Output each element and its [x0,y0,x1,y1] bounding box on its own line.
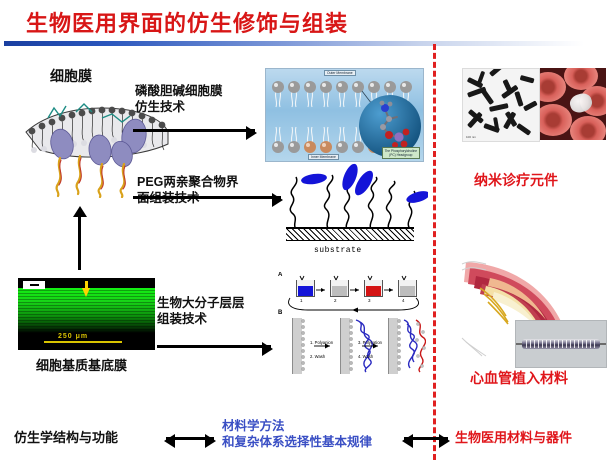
scale-bar-label: 250 μm [58,333,88,340]
arrow-label-peg: PEG两亲聚合物界面组装技术 [137,175,238,206]
page-title: 生物医用界面的仿生修饰与组装 [26,6,348,38]
footer-arrow-right [404,437,448,440]
section-divider [433,44,436,460]
lbl-step-1: 1. Polyanion [310,340,333,346]
lbl-step-3: 3. Polycation [358,340,382,346]
arrow-label-lbl: 生物大分子层层组装技术 [157,296,245,327]
footer-arrow-left [166,437,214,440]
arrow-lbl [157,345,271,348]
lbl-step-2: 2. Wash [310,354,325,360]
upward-flow-arrow [78,216,81,270]
substrate-hatch [286,227,414,241]
micrograph-marker [23,281,45,289]
tem-nanorods-image: 100 nm [462,68,540,142]
cardiovascular-implant-label: 心血管植入材料 [470,370,568,388]
micrograph-pointer-arrow [82,288,90,297]
stent-mesh [526,340,596,348]
tem-scale-label: 100 nm [466,135,476,139]
beaker-number-3: 3 [368,298,371,303]
red-blood-cells-image [540,68,606,140]
peg-assembly-figure: substrate [286,163,428,255]
phosphocholine-caption: The Phosphorylcholine (PC) Headgroup [382,147,420,159]
ecm-label: 细胞基质基底膜 [36,358,127,374]
substrate-label: substrate [314,246,362,255]
ecm-fluorescence-micrograph: 250 μm [18,278,155,350]
scale-bar [44,341,122,343]
cell-membrane-label: 细胞膜 [50,68,92,86]
slide-canvas: 生物医用界面的仿生修饰与组装 细胞膜 [0,0,608,462]
lipid-bilayer-figure: Outer Membrane Inner Membrane T [265,68,424,162]
lbl-step-4: 4. Wash [358,354,373,360]
beaker-number-4: 4 [402,298,405,303]
inner-membrane-label: Inner Membrane [308,154,339,160]
stent-photo [515,320,607,368]
footer-right-text: 生物医用材料与器件 [455,430,572,446]
outer-membrane-label: Outer Membrane [324,70,356,76]
beaker-number-1: 1 [300,298,303,303]
arrow-peg [133,196,281,199]
arrow-label-phosphorylcholine: 磷酸胆碱细胞膜仿生技术 [135,84,223,115]
footer-left-text: 仿生学结构与功能 [14,430,118,446]
nano-theranostics-label: 纳米诊疗元件 [474,172,558,190]
arrow-phosphorylcholine [133,129,255,132]
title-underline-rule [4,41,584,46]
footer-middle-text: 材料学方法和复杂体系选择性基本规律 [222,419,372,450]
layer-by-layer-figure: A B 1 [278,272,426,374]
beaker-number-2: 2 [334,298,337,303]
